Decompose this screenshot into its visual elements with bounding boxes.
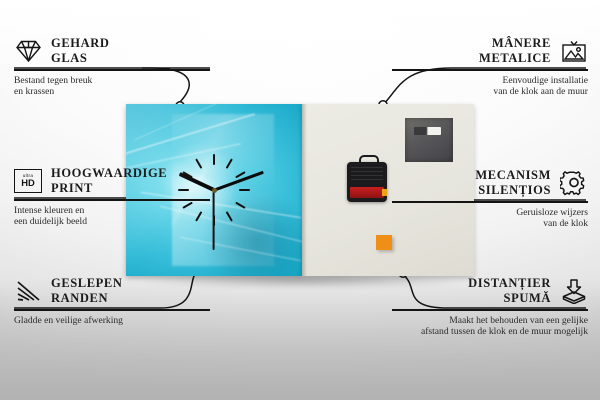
callout-rule [392, 201, 588, 203]
callout-rule [14, 309, 210, 311]
callout-description: Eenvoudige installatie van de klok aan d… [378, 75, 588, 98]
infographic-canvas: GEHARD GLAS Bestand tegen breuk en krass… [0, 0, 600, 400]
spacer-press-icon [560, 277, 588, 305]
callout-geslepen-randen: GESLEPEN RANDEN Gladde en veilige afwerk… [14, 276, 224, 326]
callout-gehard-glas: GEHARD GLAS Bestand tegen breuk en krass… [14, 36, 224, 98]
gear-icon [560, 169, 588, 197]
wall-mount-frame-icon [560, 37, 588, 65]
diamond-icon [14, 37, 42, 65]
callout-title: GEHARD GLAS [51, 36, 109, 65]
metal-hanger-plate [405, 118, 453, 162]
callout-description: Bestand tegen breuk en krassen [14, 75, 224, 98]
callout-rule [392, 309, 588, 311]
callout-description: Geruisloze wijzers van de klok [378, 207, 588, 230]
beveled-edge-icon [14, 277, 42, 305]
callout-description: Intense kleuren en een duidelijk beeld [14, 205, 224, 228]
callout-rule [14, 199, 210, 201]
callout-title: GESLEPEN RANDEN [51, 276, 123, 305]
callout-distantier-spuma: DISTANȚIER SPUMĂ Maakt het behouden van … [378, 276, 588, 338]
callout-description: Gladde en veilige afwerking [14, 315, 224, 327]
ultra-hd-icon-large-text: HD [21, 178, 35, 187]
callout-manere-metalice: MÂNERE METALICE Eenvoudige installatie v… [378, 36, 588, 98]
foam-spacer [376, 235, 392, 250]
callout-description: Maakt het behouden van een gelijke afsta… [356, 315, 588, 338]
callout-title: DISTANȚIER SPUMĂ [468, 276, 551, 305]
callout-mecanism-silentios: MECANISM SILENȚIOS Geruisloze wijzers va… [378, 168, 588, 230]
callout-rule [392, 69, 588, 71]
callout-rule [14, 69, 210, 71]
callout-hoogwaardige-print: ultra HD HOOGWAARDIGE PRINT Intense kleu… [14, 166, 224, 228]
callout-title: MÂNERE METALICE [479, 36, 551, 65]
callout-title: MECANISM SILENȚIOS [475, 168, 551, 197]
ultra-hd-icon: ultra HD [14, 167, 42, 195]
callout-title: HOOGWAARDIGE PRINT [51, 166, 167, 195]
